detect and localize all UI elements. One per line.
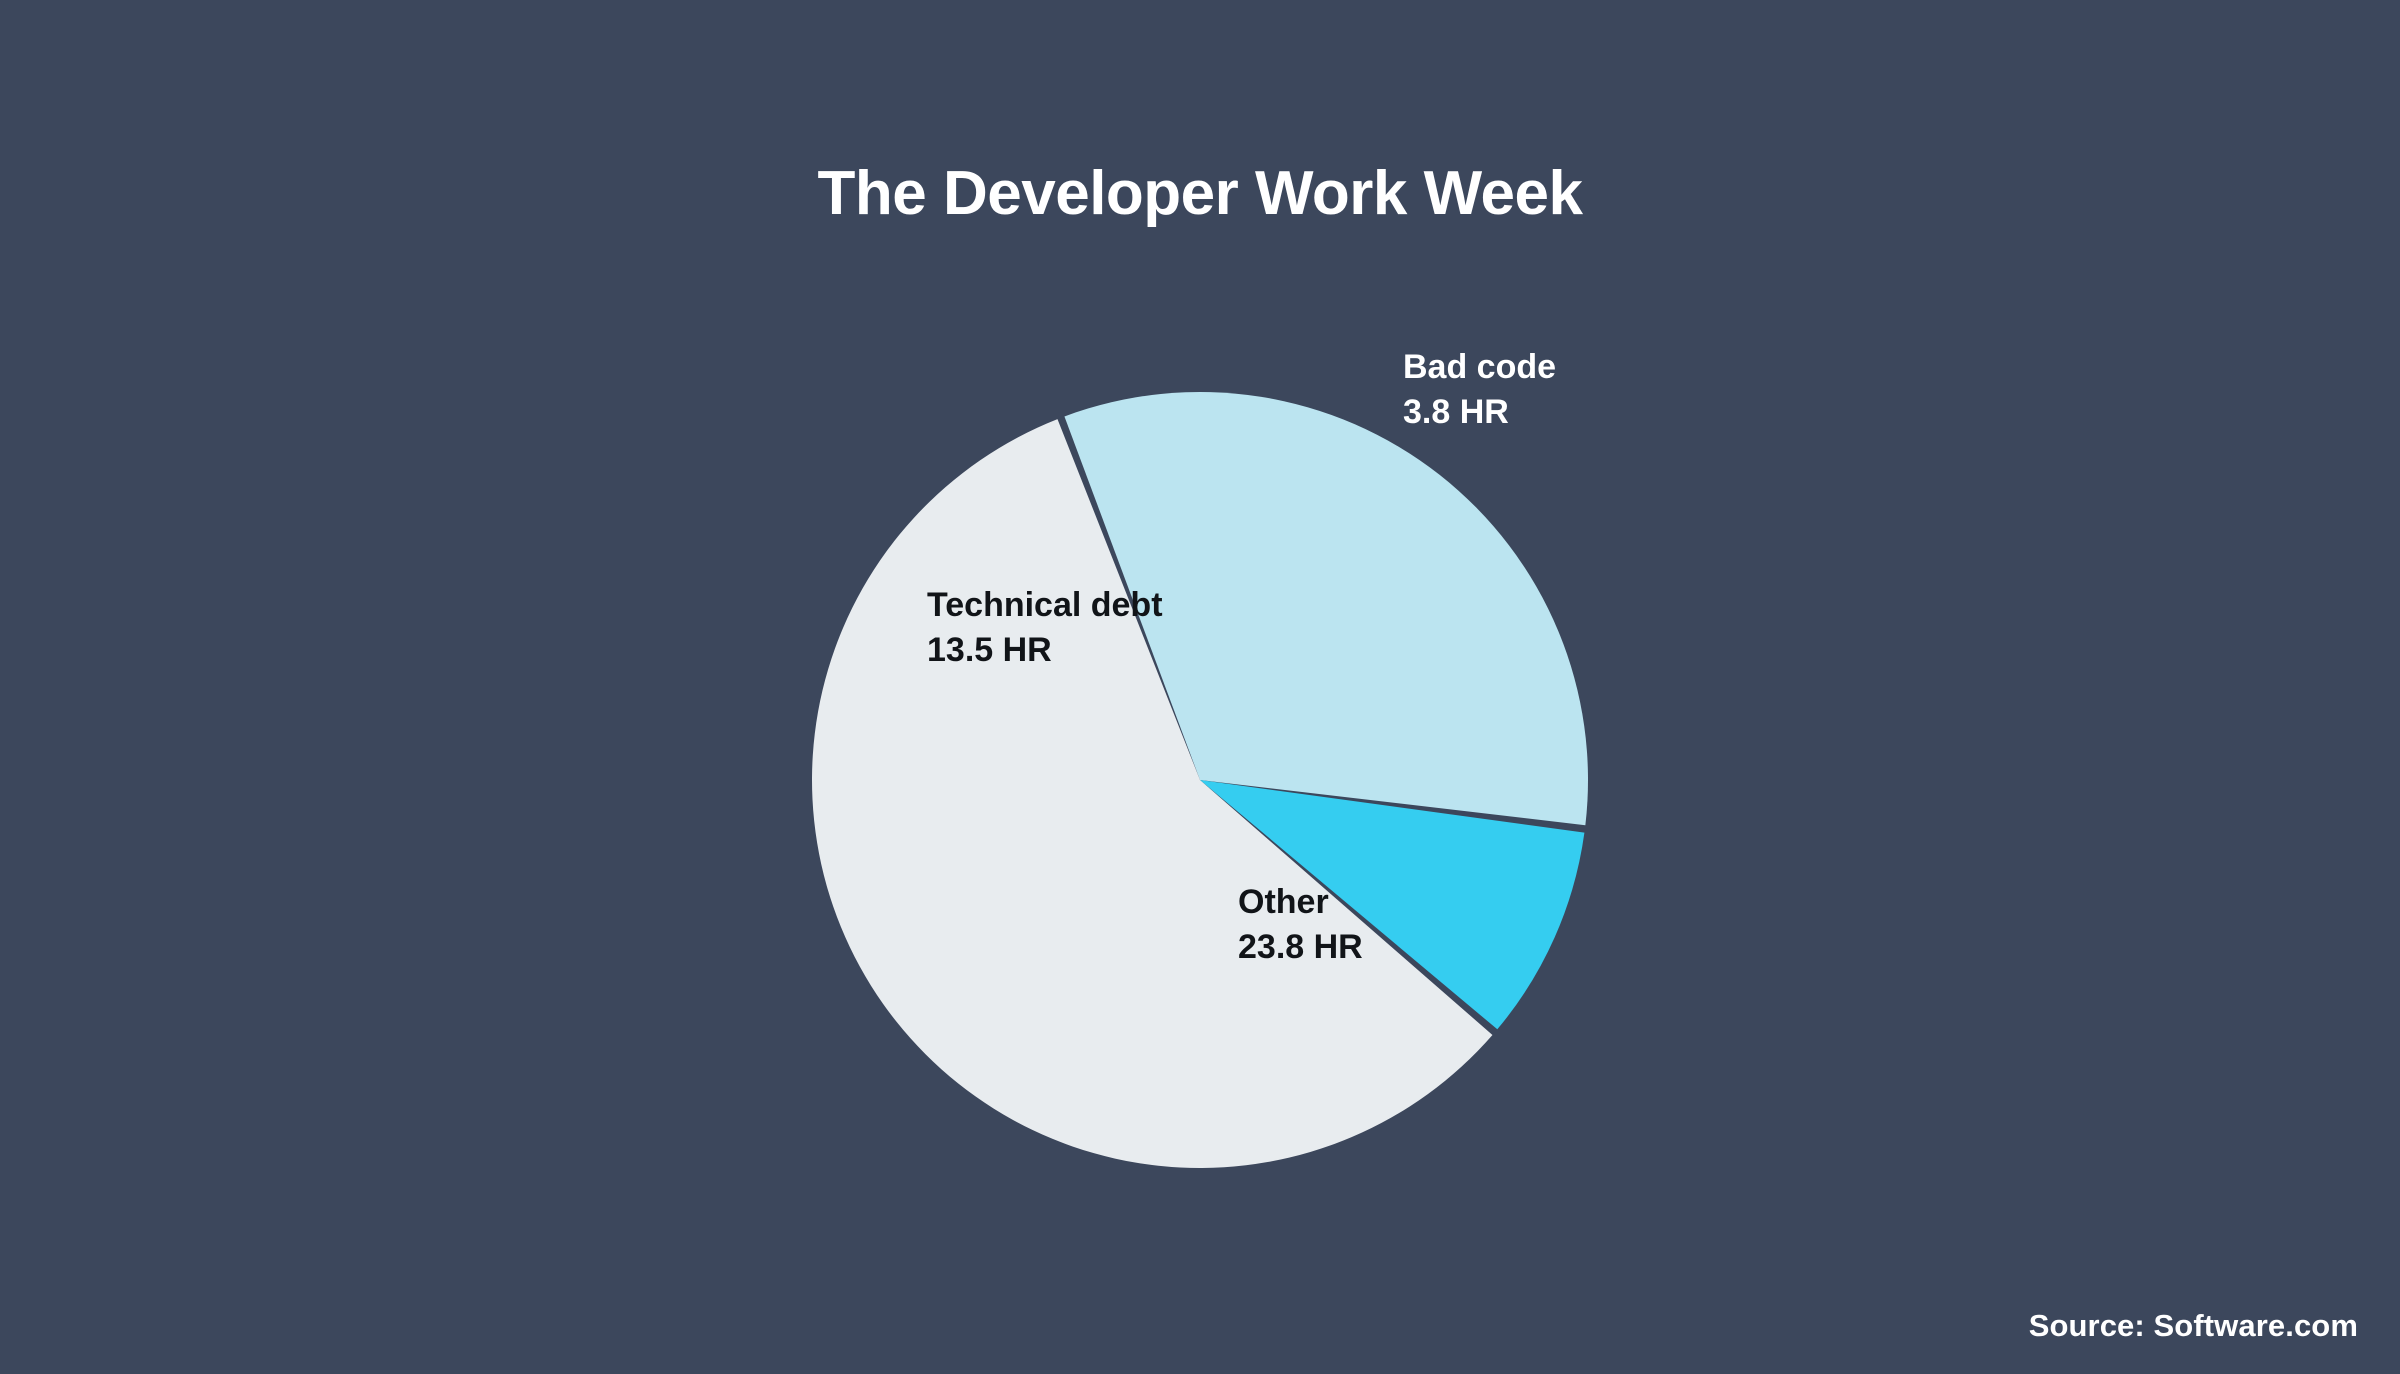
pie-label-bad-code-name: Bad code <box>1403 348 1556 386</box>
pie-label-bad-code-value: 3.8 HR <box>1403 390 1556 435</box>
pie-label-other-value: 23.8 HR <box>1238 925 1363 970</box>
pie-label-technical-debt-value: 13.5 HR <box>927 628 1163 673</box>
source-attribution: Source: Software.com <box>2029 1308 2358 1344</box>
pie-chart-svg <box>0 0 2400 1374</box>
pie-slices <box>812 392 1588 1168</box>
pie-label-bad-code: Bad code 3.8 HR <box>1403 345 1556 435</box>
pie-label-other: Other 23.8 HR <box>1238 880 1363 970</box>
pie-label-other-name: Other <box>1238 883 1329 921</box>
pie-label-technical-debt: Technical debt 13.5 HR <box>927 583 1163 673</box>
pie-label-technical-debt-name: Technical debt <box>927 586 1163 624</box>
slide-canvas: The Developer Work Week Technical debt 1… <box>0 0 2400 1374</box>
pie-chart: Technical debt 13.5 HR Bad code 3.8 HR O… <box>0 0 2400 1374</box>
